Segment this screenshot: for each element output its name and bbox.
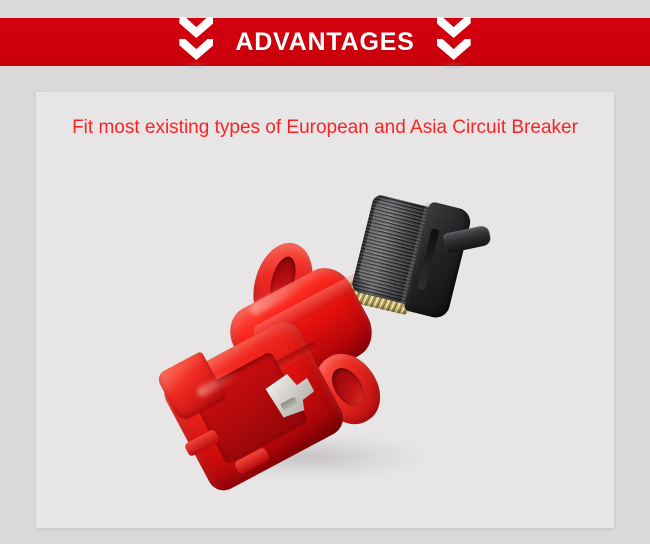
chevron-shadow [181,63,211,70]
product-photo [36,164,614,528]
content-card: Fit most existing types of European and … [36,92,614,528]
thumbscrew-knob [349,188,473,321]
product-illustration [153,184,513,504]
chevron-down-icon [179,17,213,38]
chevron-down-icon [179,39,213,60]
banner-content: ADVANTAGES [0,18,650,66]
banner-title: ADVANTAGES [235,30,414,55]
chevron-down-icon [437,17,471,38]
double-chevron-down-icon-right [437,17,471,69]
advantages-banner: ADVANTAGES [0,18,650,66]
chevron-down-icon [437,39,471,60]
double-chevron-down-icon-left [179,17,213,69]
feature-headline: Fit most existing types of European and … [36,116,614,140]
chevron-shadow [439,63,469,70]
